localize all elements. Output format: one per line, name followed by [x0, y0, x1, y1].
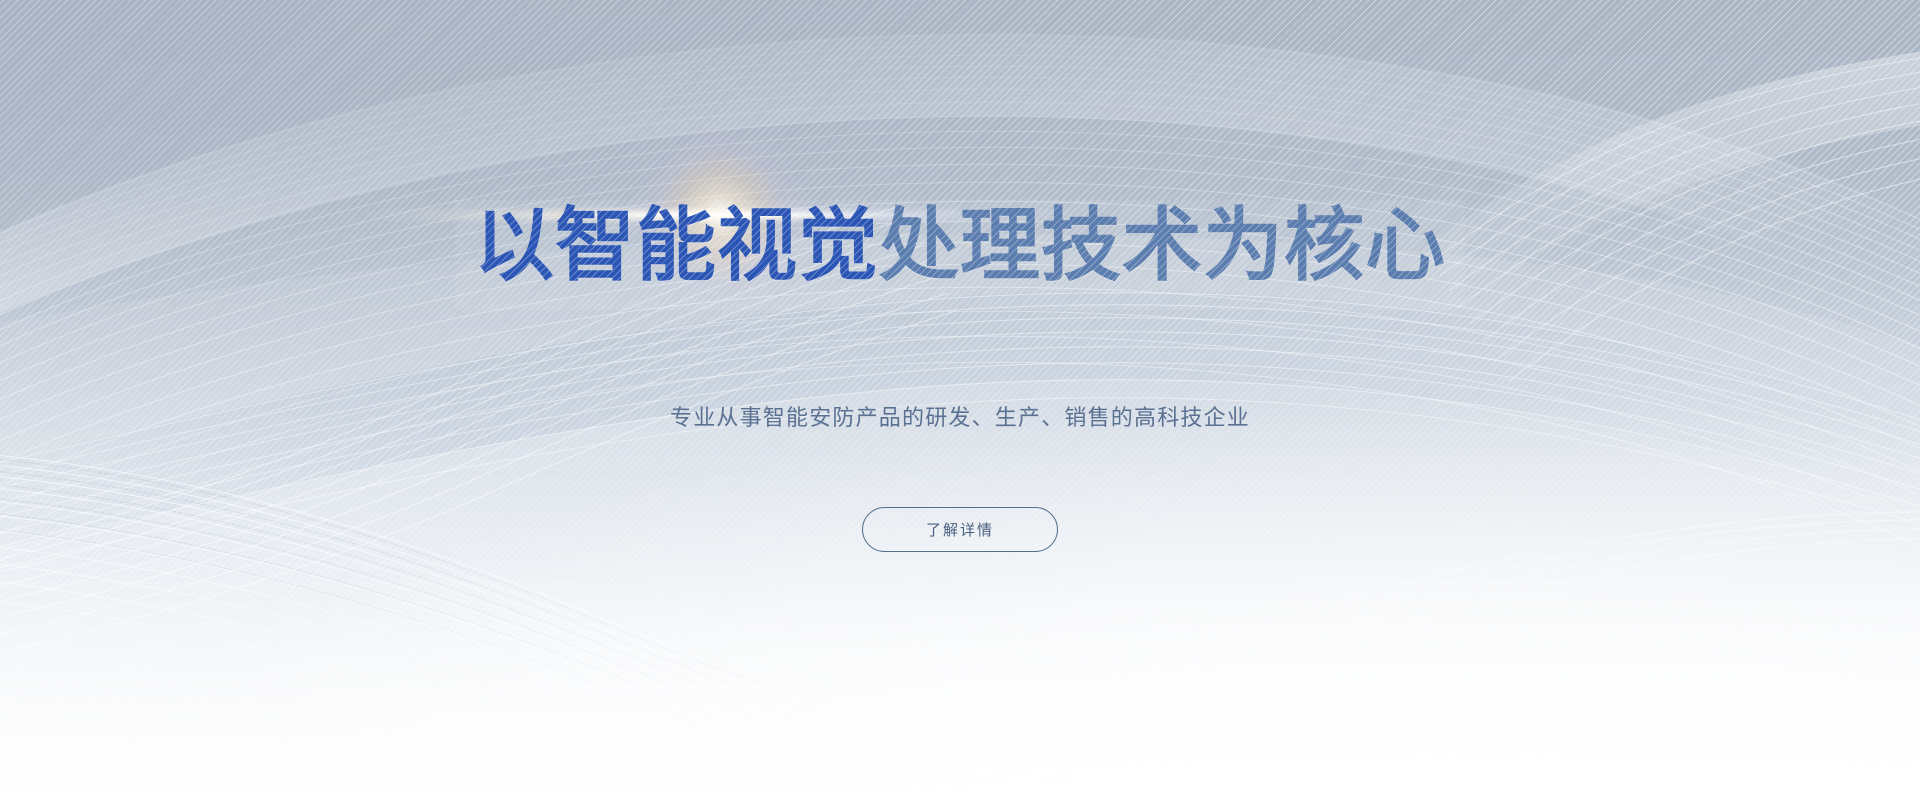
- hero-subtitle: 专业从事智能安防产品的研发、生产、销售的高科技企业: [670, 400, 1250, 432]
- headline-segment-secondary: 处理技术为核心: [879, 199, 1446, 292]
- page-title: 以智能视觉处理技术为核心: [474, 206, 1446, 286]
- learn-more-button[interactable]: 了解详情: [862, 507, 1058, 552]
- hero-banner: 以智能视觉处理技术为核心 专业从事智能安防产品的研发、生产、销售的高科技企业 了…: [0, 0, 1920, 800]
- headline-segment-primary: 以智能视觉: [474, 199, 879, 292]
